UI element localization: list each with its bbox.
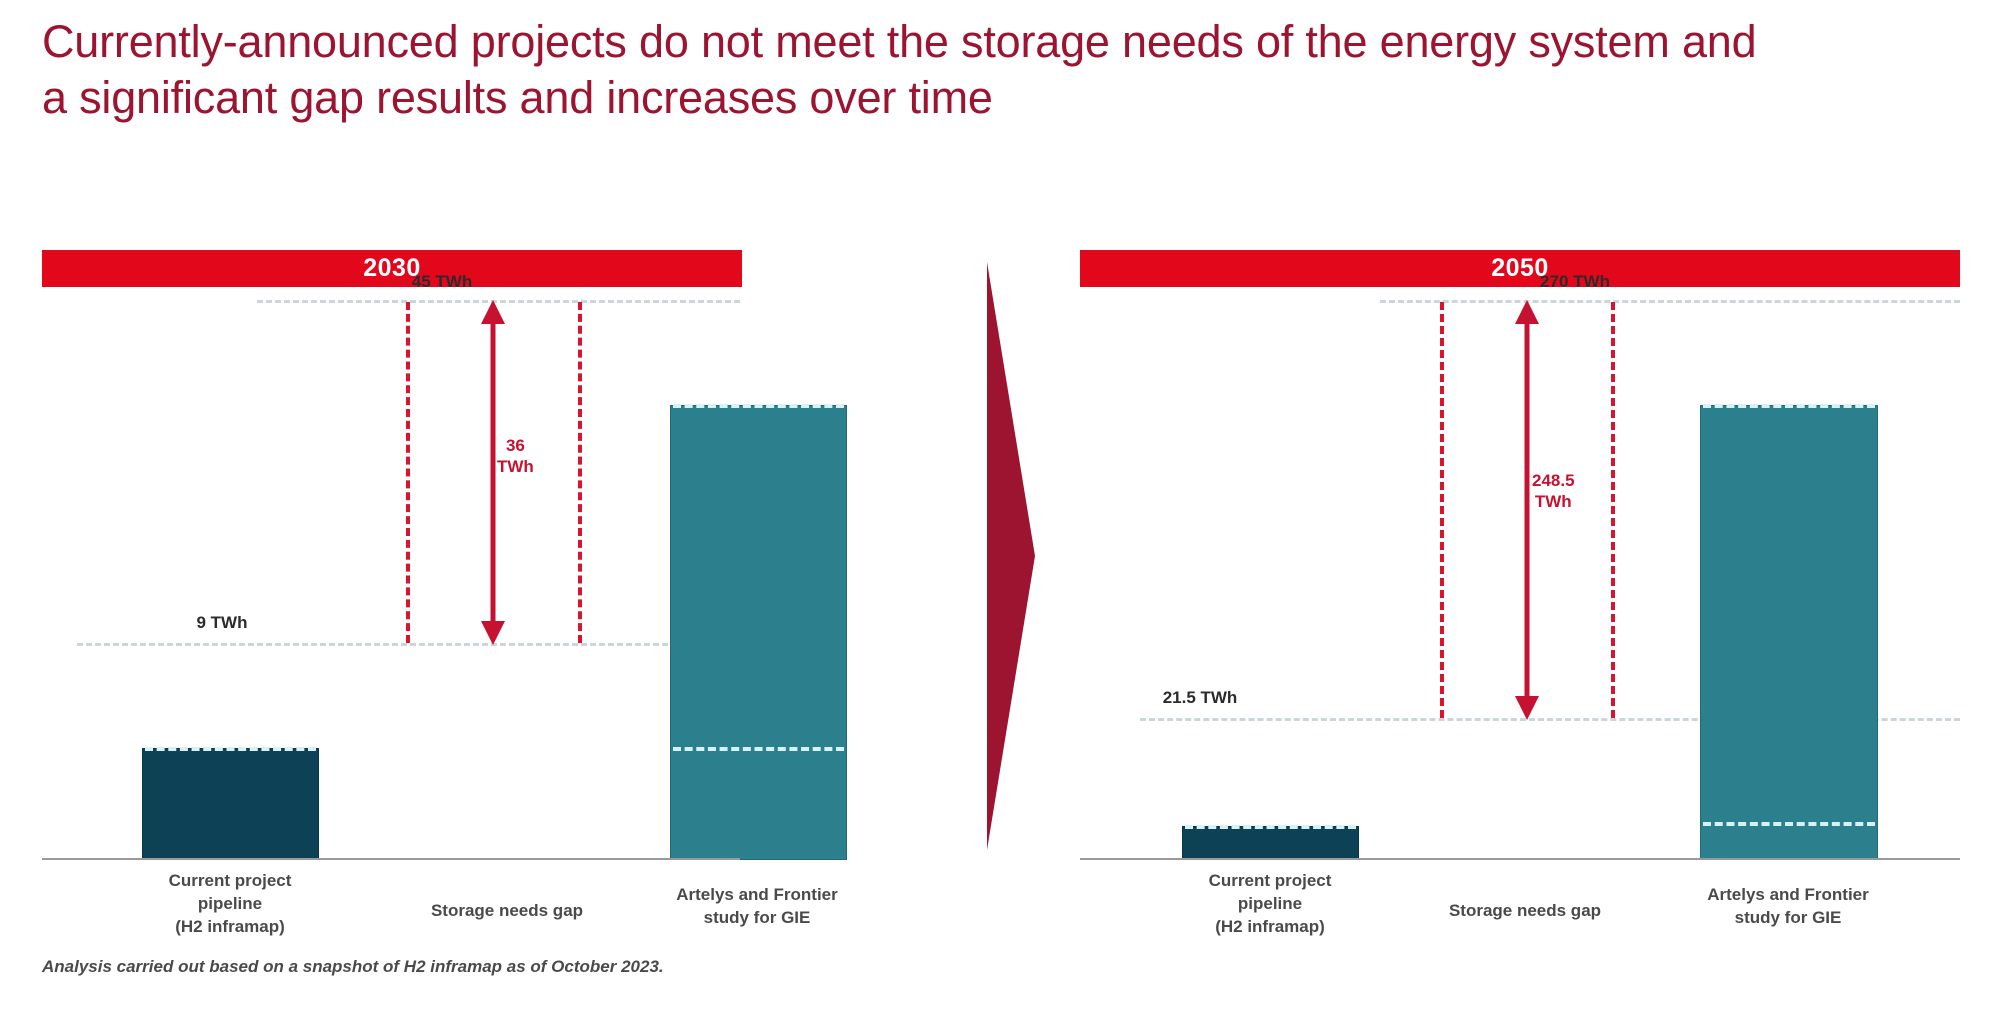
category-label-2050-3: Artelys and Frontier study for GIE [1673,884,1903,930]
gap-value-number-2050: 248.5 [1532,471,1575,490]
gap-bracket-right-2050 [1611,302,1615,718]
cat-2030-1-l1: Current project [169,871,292,890]
category-label-2030-2: Storage needs gap [397,900,617,923]
bar-top-dash-2050-1 [1185,825,1356,829]
plot-area-2030: 45 TWh 9 TWh 36 TWh [42,300,942,860]
cat-2050-1-l1: Current project [1209,871,1332,890]
category-label-2030-3: Artelys and Frontier study for GIE [642,884,872,930]
axis-baseline-2030 [42,858,740,860]
cat-2050-3-l2: study for GIE [1735,908,1842,927]
cat-2030-3-l1: Artelys and Frontier [676,885,838,904]
cat-2030-2-l1: Storage needs gap [431,901,583,920]
bar-top-dash-2030-1 [145,747,316,751]
value-label-base-2050: 21.5 TWh [1100,688,1300,708]
page-title-line-2: a significant gap results and increases … [42,70,1972,126]
cat-2050-1-l3: (H2 inframap) [1215,917,1325,936]
category-label-2030-1: Current project pipeline (H2 inframap) [140,870,320,939]
progression-chevron-icon [983,262,1041,850]
cat-2030-3-l2: study for GIE [704,908,811,927]
category-label-2050-1: Current project pipeline (H2 inframap) [1180,870,1360,939]
gap-value-number-2030: 36 [506,436,525,455]
bar-top-dash-2030-3 [673,404,844,408]
value-label-top-2050: 270 TWh [1475,272,1675,292]
bar-top-dash-2050-3 [1703,404,1875,408]
cat-2050-1-l2: pipeline [1238,894,1302,913]
plot-area-2050: 270 TWh 21.5 TWh 248.5 TWh [1080,300,1960,860]
bar-inner-dash-2030-3 [673,747,844,751]
gap-value-2030: 36 TWh [497,435,534,478]
cat-2050-2-l1: Storage needs gap [1449,901,1601,920]
page-title: Currently-announced projects do not meet… [42,14,1972,126]
gap-bracket-left-2050 [1440,302,1444,718]
gap-value-unit-2050: TWh [1535,492,1572,511]
bar-current-pipeline-2050 [1182,826,1359,860]
bar-artelys-frontier-2030 [670,405,847,860]
gap-bracket-left-2030 [406,302,410,643]
reference-line-top-2050 [1380,300,1960,303]
axis-baseline-2050 [1080,858,1960,860]
category-label-2050-2: Storage needs gap [1415,900,1635,923]
bar-artelys-frontier-2050 [1700,405,1878,860]
gap-value-unit-2030: TWh [497,457,534,476]
cat-2030-1-l3: (H2 inframap) [175,917,285,936]
reference-line-base-2030 [77,643,740,646]
bar-inner-dash-2050-3 [1703,822,1875,826]
bar-current-pipeline-2030 [142,748,319,860]
gap-bracket-right-2030 [578,302,582,643]
value-label-top-2030: 45 TWh [352,272,532,292]
cat-2030-1-l2: pipeline [198,894,262,913]
value-label-base-2030: 9 TWh [132,613,312,633]
page-title-line-1: Currently-announced projects do not meet… [42,14,1972,70]
gap-value-2050: 248.5 TWh [1532,470,1575,513]
cat-2050-3-l1: Artelys and Frontier [1707,885,1869,904]
footnote: Analysis carried out based on a snapshot… [42,957,664,977]
